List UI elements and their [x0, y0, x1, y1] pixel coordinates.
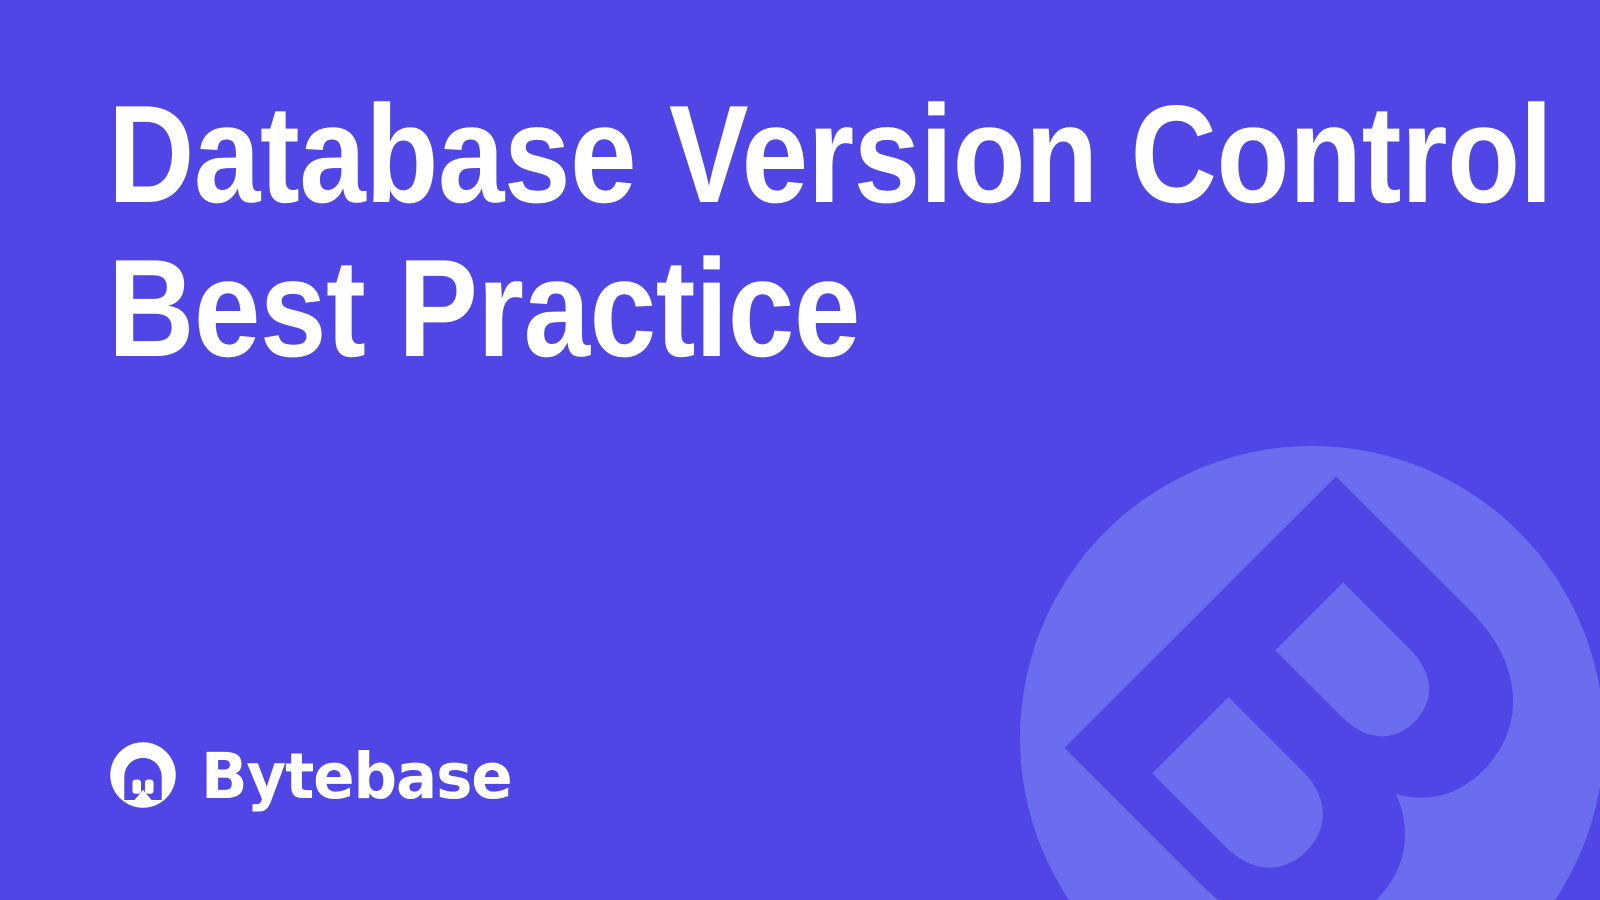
- page-title: Database Version Control Best Practice: [108, 78, 1488, 386]
- title-line-2: Best Practice: [108, 232, 1295, 386]
- brand-wordmark: Bytebase: [201, 745, 512, 808]
- title-line-1: Database Version Control: [108, 78, 1295, 232]
- bytebase-logo-icon: [104, 736, 182, 814]
- bytebase-b-watermark-icon: [962, 388, 1600, 900]
- cover-card: Database Version Control Best Practice: [0, 0, 1600, 900]
- brand-logo-lockup: Bytebase: [104, 736, 521, 814]
